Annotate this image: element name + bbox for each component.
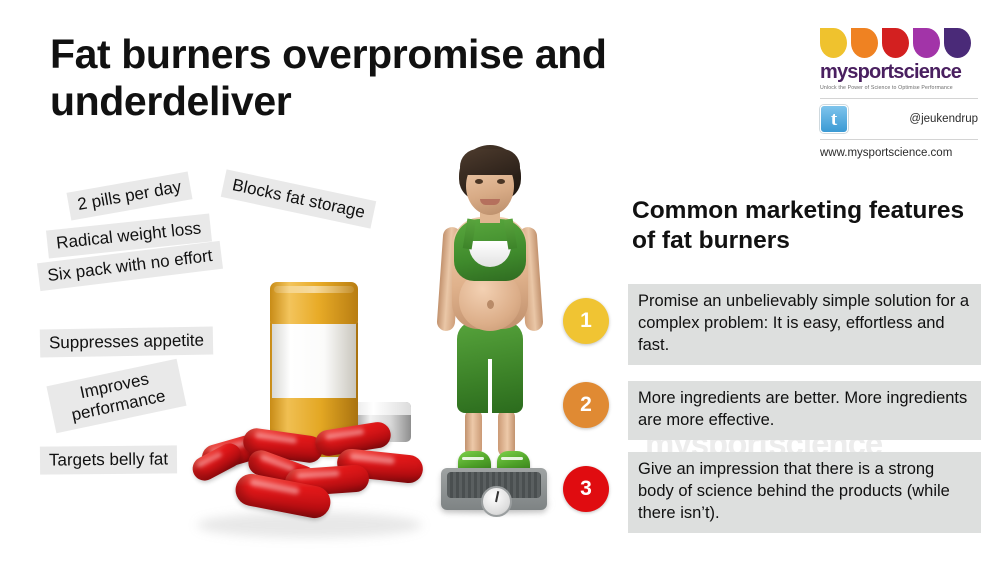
logo-dot-magenta xyxy=(913,28,940,58)
logo-dot-orange xyxy=(851,28,878,58)
woman-on-scale-illustration xyxy=(425,145,555,530)
mouth xyxy=(480,199,500,205)
brand-logo-block: mysportscience Unlock the Power of Scien… xyxy=(820,28,978,159)
leg-gap xyxy=(488,359,492,415)
bathroom-scale xyxy=(441,468,547,510)
divider-top xyxy=(820,98,978,99)
scale-dial xyxy=(481,486,512,517)
panel-heading: Common marketing features of fat burners xyxy=(632,196,984,256)
scale-needle xyxy=(495,491,499,502)
feature-text-1: Promise an unbelievably simple solution … xyxy=(628,284,981,365)
claim-label-1: 2 pills per day xyxy=(66,172,192,221)
marketing-feature-item-2: 2 More ingredients are better. More ingr… xyxy=(563,382,981,440)
bottle-cap xyxy=(270,282,358,324)
feature-text-2: More ingredients are better. More ingred… xyxy=(628,381,981,440)
page-title: Fat burners overpromise and underdeliver xyxy=(50,31,730,124)
website-url[interactable]: www.mysportscience.com xyxy=(820,147,978,159)
badge-number-2: 2 xyxy=(563,382,609,428)
logo-dots xyxy=(820,28,978,58)
twitter-row[interactable]: t @jeukendrup xyxy=(820,106,978,132)
right-lower-leg xyxy=(498,409,515,457)
twitter-handle: @jeukendrup xyxy=(848,113,978,125)
logo-dot-red xyxy=(882,28,909,58)
brand-tagline: Unlock the Power of Science to Optimise … xyxy=(820,85,978,91)
left-eye xyxy=(475,179,483,184)
brand-name: mysportscience xyxy=(820,62,978,82)
marketing-feature-item-1: 1 Promise an unbelievably simple solutio… xyxy=(563,298,981,365)
hair-fringe xyxy=(460,149,520,175)
claim-label-2: Blocks fat storage xyxy=(221,169,377,228)
marketing-feature-item-3: 3 Give an impression that there is a str… xyxy=(563,466,981,533)
logo-dot-yellow xyxy=(820,28,847,58)
logo-dot-purple xyxy=(944,28,971,58)
slide-canvas: Fat burners overpromise and underdeliver… xyxy=(0,0,1000,563)
divider-bottom xyxy=(820,139,978,140)
badge-number-3: 3 xyxy=(563,466,609,512)
navel xyxy=(487,300,494,309)
right-eye xyxy=(497,179,505,184)
feature-text-3: Give an impression that there is a stron… xyxy=(628,452,981,533)
claim-label-7: Targets belly fat xyxy=(40,445,177,474)
badge-number-1: 1 xyxy=(563,298,609,344)
left-lower-leg xyxy=(465,409,482,457)
twitter-icon[interactable]: t xyxy=(820,105,848,133)
pill-bottle-artwork: Rx xyxy=(185,262,435,552)
claim-label-6: Improves performance xyxy=(46,359,186,434)
